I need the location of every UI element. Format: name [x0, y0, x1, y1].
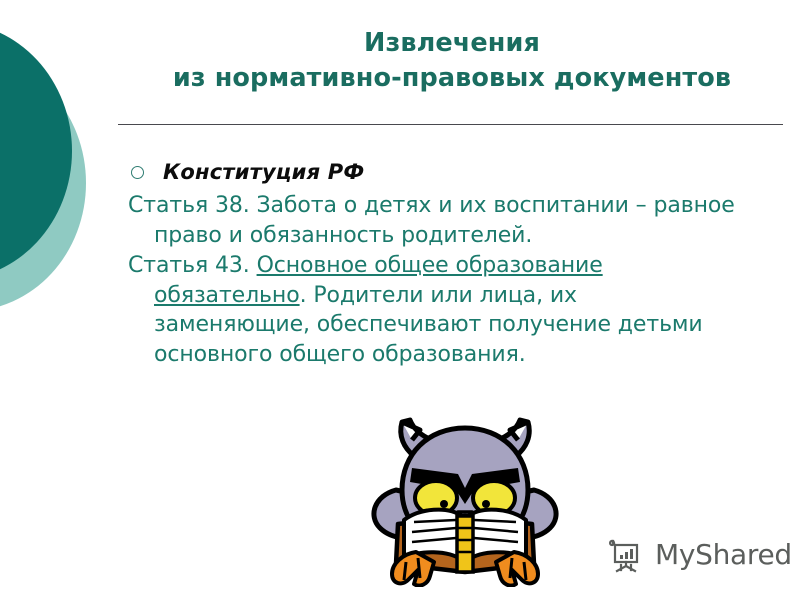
slide-body: Конституция РФ Статья 38. Забота о детях…: [118, 158, 738, 369]
slide-canvas: Извлечения из нормативно-правовых докуме…: [0, 0, 800, 600]
bullet-heading-row: Конституция РФ: [118, 158, 738, 186]
title-divider-rule: [118, 124, 783, 125]
article-43-text-before: Статья 43.: [128, 253, 257, 278]
presentation-board-chart-icon: [608, 536, 646, 574]
title-line-1: Извлечения: [118, 26, 786, 61]
bullet-heading-label: Конституция РФ: [163, 159, 364, 185]
myshared-label: MyShared: [655, 540, 792, 570]
paragraph-article-43: Статья 43. Основное общее образование об…: [118, 251, 738, 369]
owl-reading-book-illustration: [358, 412, 572, 587]
title-line-2: из нормативно-правовых документов: [118, 61, 786, 96]
paragraph-article-38: Статья 38. Забота о детях и их воспитани…: [118, 191, 738, 250]
slide-title: Извлечения из нормативно-правовых докуме…: [118, 26, 786, 96]
hollow-circle-bullet-icon: [131, 166, 144, 179]
myshared-watermark: MyShared: [608, 536, 792, 574]
article-38-text: Статья 38. Забота о детях и их воспитани…: [128, 193, 735, 248]
